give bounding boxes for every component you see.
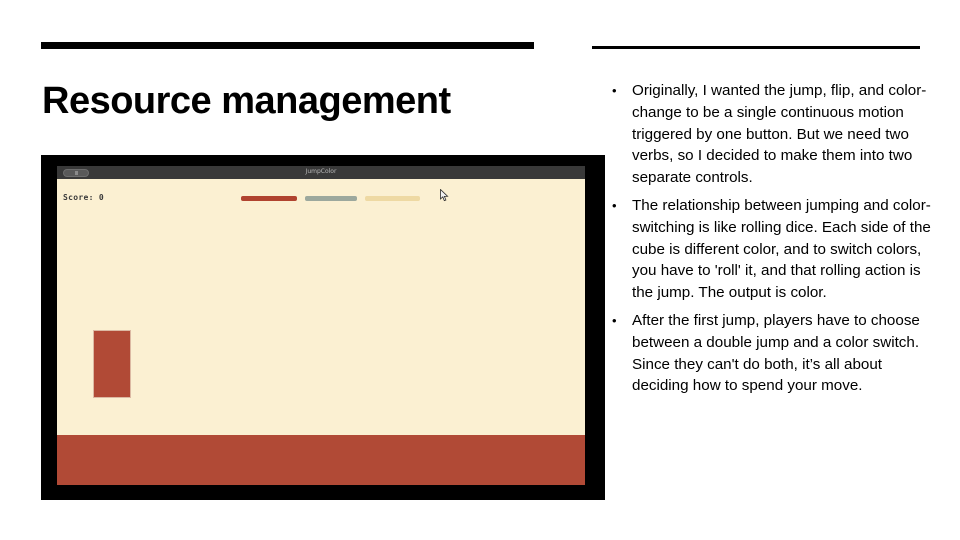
- bullet-text: After the first jump, players have to ch…: [632, 310, 932, 397]
- game-canvas[interactable]: Score: 0: [57, 179, 585, 485]
- game-screenshot-frame: JumpColor Score: 0: [41, 155, 605, 500]
- bar-tan: [365, 196, 420, 201]
- list-item: • After the first jump, players have to …: [612, 310, 932, 397]
- bullet-marker-icon: •: [612, 310, 632, 397]
- bullet-marker-icon: •: [612, 195, 632, 304]
- bullet-list: • Originally, I wanted the jump, flip, a…: [612, 80, 932, 403]
- score-label: Score: 0: [63, 193, 104, 202]
- bullet-text: The relationship between jumping and col…: [632, 195, 932, 304]
- list-item: • The relationship between jumping and c…: [612, 195, 932, 304]
- slide-root: Resource management JumpColor Score: 0: [0, 0, 960, 540]
- game-window: JumpColor Score: 0: [57, 166, 585, 485]
- list-item: • Originally, I wanted the jump, flip, a…: [612, 80, 932, 189]
- title-rule-right: [592, 46, 920, 49]
- bullet-text: Originally, I wanted the jump, flip, and…: [632, 80, 932, 189]
- title-rule-left: [41, 42, 534, 49]
- bar-gray: [305, 196, 357, 201]
- page-title: Resource management: [42, 80, 562, 124]
- game-titlebar: JumpColor: [57, 166, 585, 179]
- window-title: JumpColor: [57, 168, 585, 175]
- resource-bars: [241, 196, 420, 201]
- ground-platform: [57, 435, 585, 485]
- bullet-marker-icon: •: [612, 80, 632, 189]
- bar-red: [241, 196, 297, 201]
- player-cube: [93, 330, 131, 398]
